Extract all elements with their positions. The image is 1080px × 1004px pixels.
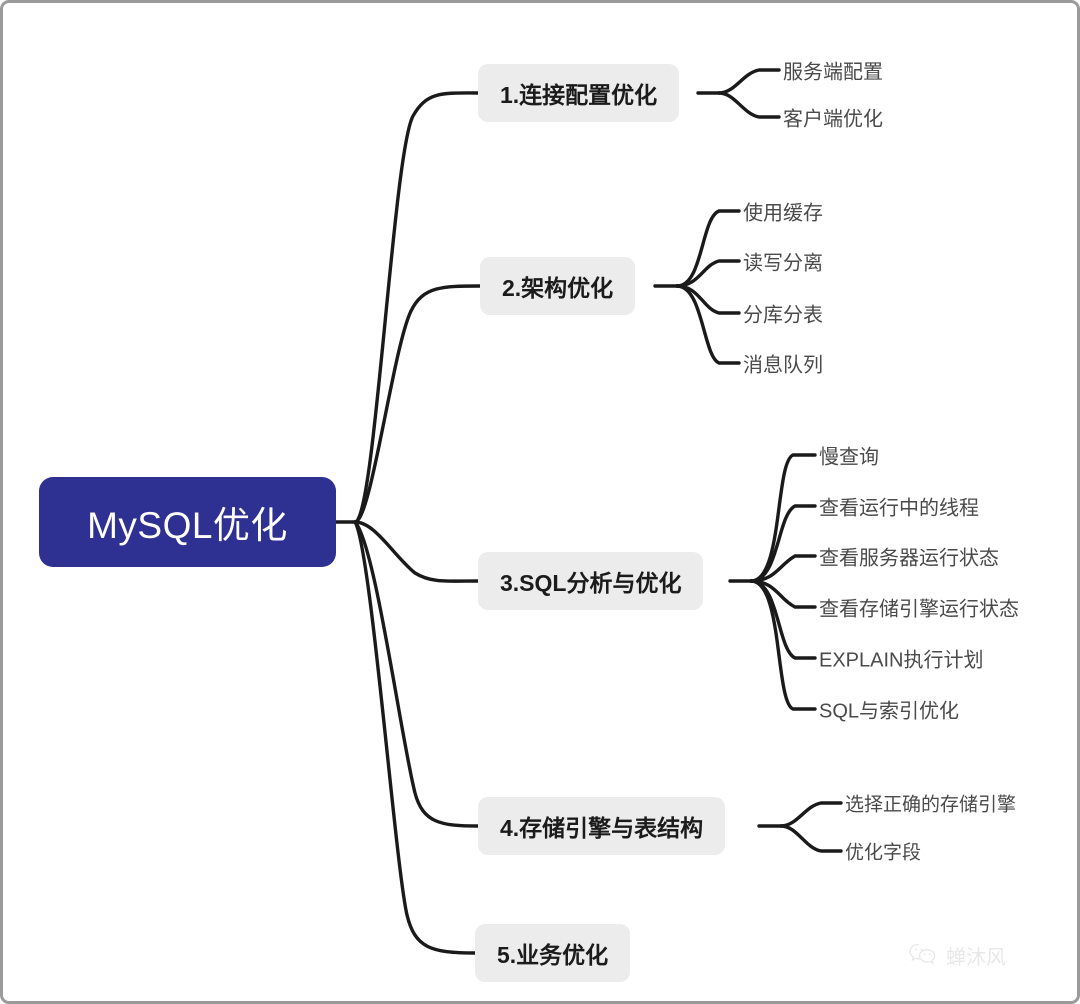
leaf-node-3-6-label: SQL与索引优化 <box>819 701 959 723</box>
leaf-node-3-3-label: 查看服务器运行状态 <box>819 548 999 570</box>
root-node-label: MySQL优化 <box>87 495 288 549</box>
leaf-node-1-2-label: 客户端优化 <box>783 109 883 131</box>
leaf-node-2-1[interactable]: 使用缓存 <box>743 197 823 226</box>
connector-branch-2-child-4 <box>677 286 739 363</box>
leaf-node-4-2[interactable]: 优化字段 <box>845 838 921 865</box>
connector-branch-4-child-2 <box>781 826 841 851</box>
branch-node-1[interactable]: 1.连接配置优化 <box>478 64 679 122</box>
branch-node-4-label: 4.存储引擎与表结构 <box>500 809 703 843</box>
leaf-node-2-2-label: 读写分离 <box>743 253 823 275</box>
connector-branch-2-child-2 <box>677 261 739 286</box>
connector-branch-4-child-1 <box>781 803 841 826</box>
leaf-node-4-1-label: 选择正确的存储引擎 <box>845 795 1016 816</box>
leaf-node-2-2[interactable]: 读写分离 <box>743 247 823 276</box>
leaf-node-3-4[interactable]: 查看存储引擎运行状态 <box>819 593 1019 622</box>
connector-branch-3-child-4 <box>751 581 815 607</box>
leaf-node-3-1[interactable]: 慢查询 <box>819 441 879 470</box>
leaf-node-3-6[interactable]: SQL与索引优化 <box>819 695 959 724</box>
leaf-node-1-2[interactable]: 客户端优化 <box>783 103 883 132</box>
branch-node-5-label: 5.业务优化 <box>497 936 608 970</box>
branch-node-2[interactable]: 2.架构优化 <box>480 257 635 315</box>
connector-hub-branch-1 <box>355 93 478 522</box>
connector-hub-branch-5 <box>355 522 475 953</box>
connector-branch-3-child-6 <box>751 581 815 709</box>
wechat-icon <box>908 942 938 970</box>
leaf-node-3-5-label: EXPLAIN执行计划 <box>819 650 983 672</box>
connector-branch-1-child-2 <box>719 93 779 117</box>
leaf-node-2-1-label: 使用缓存 <box>743 203 823 225</box>
connector-hub-branch-4 <box>355 522 478 826</box>
leaf-node-2-4-label: 消息队列 <box>743 355 823 377</box>
watermark-label: 蝉沐风 <box>946 941 1006 970</box>
leaf-node-1-1[interactable]: 服务端配置 <box>783 56 883 85</box>
leaf-node-3-5[interactable]: EXPLAIN执行计划 <box>819 644 983 673</box>
connector-hub-branch-2 <box>355 286 480 522</box>
leaf-node-2-3[interactable]: 分库分表 <box>743 299 823 328</box>
leaf-node-2-3-label: 分库分表 <box>743 305 823 327</box>
leaf-node-3-3[interactable]: 查看服务器运行状态 <box>819 542 999 571</box>
leaf-node-3-1-label: 慢查询 <box>819 447 879 469</box>
root-node[interactable]: MySQL优化 <box>39 477 336 567</box>
connector-branch-3-child-5 <box>751 581 815 658</box>
connector-branch-2-child-1 <box>677 211 739 286</box>
branch-node-3-label: 3.SQL分析与优化 <box>500 564 681 598</box>
leaf-node-4-2-label: 优化字段 <box>845 843 921 864</box>
connector-branch-2-child-3 <box>677 286 739 313</box>
connector-branch-1-child-1 <box>719 70 779 93</box>
leaf-node-3-2[interactable]: 查看运行中的线程 <box>819 492 979 521</box>
branch-node-1-label: 1.连接配置优化 <box>500 76 657 110</box>
mindmap-canvas: MySQL优化 1.连接配置优化 服务端配置 客户端优化 2.架构优化 使用缓存… <box>0 0 1080 1004</box>
connector-branch-3-child-1 <box>751 455 815 581</box>
branch-node-5[interactable]: 5.业务优化 <box>475 924 630 982</box>
leaf-node-3-2-label: 查看运行中的线程 <box>819 498 979 520</box>
leaf-node-4-1[interactable]: 选择正确的存储引擎 <box>845 790 1016 817</box>
leaf-node-3-4-label: 查看存储引擎运行状态 <box>819 599 1019 621</box>
connector-hub-branch-3 <box>355 522 478 581</box>
branch-node-2-label: 2.架构优化 <box>502 269 613 303</box>
connector-branch-3-child-2 <box>751 506 815 581</box>
leaf-node-1-1-label: 服务端配置 <box>783 62 883 84</box>
connector-branch-3-child-3 <box>751 556 815 581</box>
watermark: 蝉沐风 <box>908 941 1006 970</box>
leaf-node-2-4[interactable]: 消息队列 <box>743 349 823 378</box>
branch-node-4[interactable]: 4.存储引擎与表结构 <box>478 797 725 855</box>
branch-node-3[interactable]: 3.SQL分析与优化 <box>478 552 703 610</box>
